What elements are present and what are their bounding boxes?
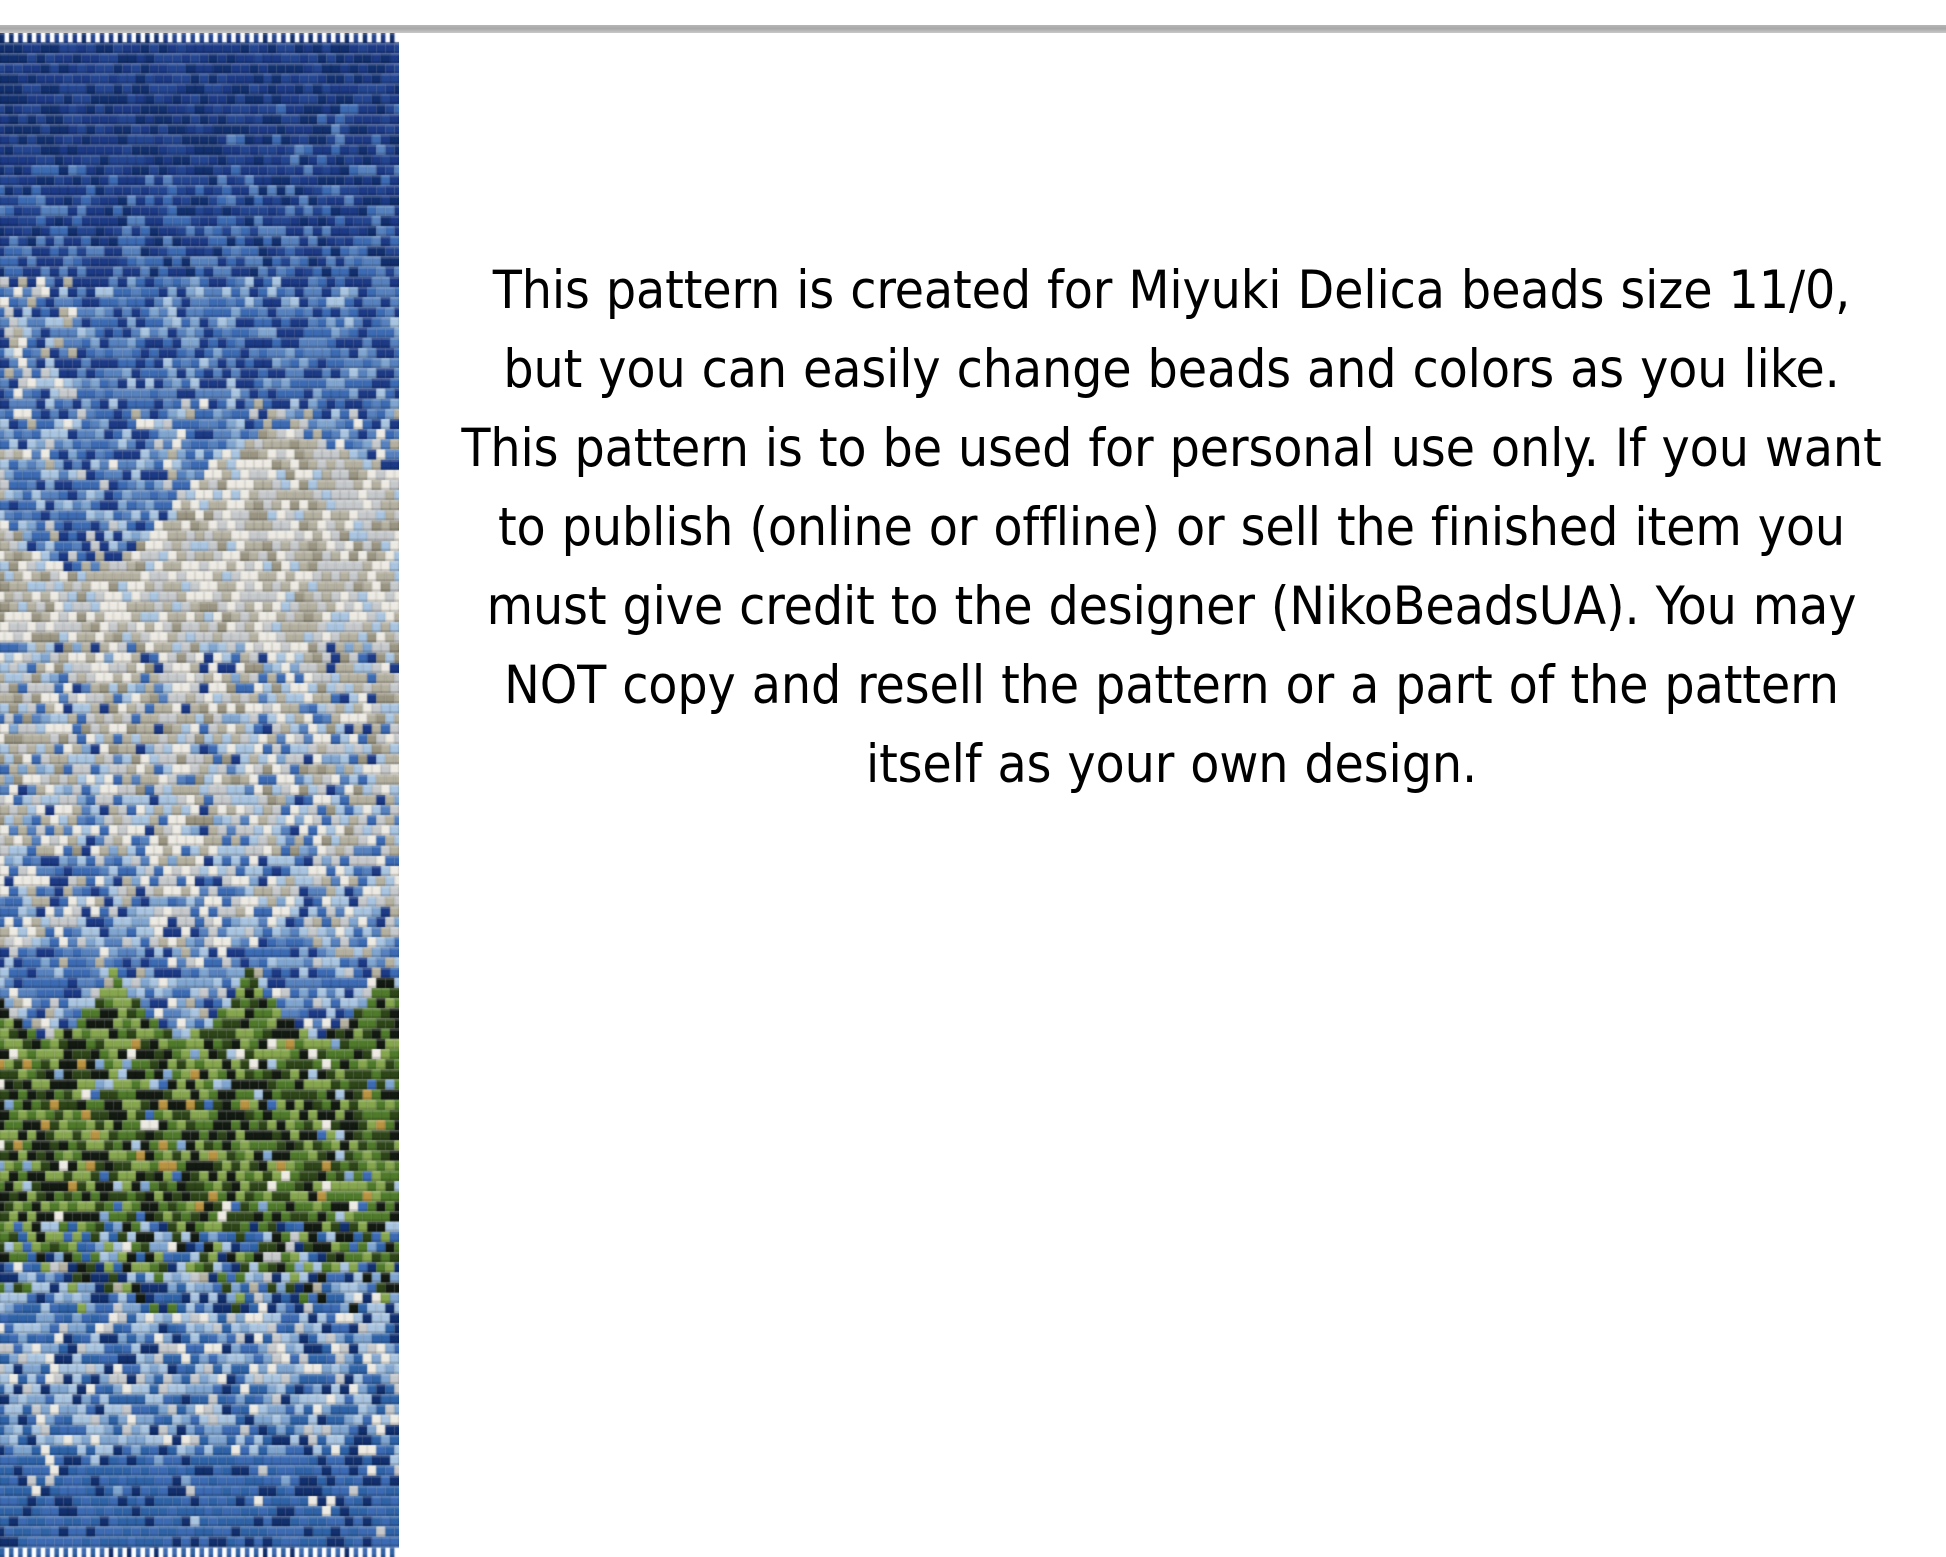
top-divider — [0, 25, 1946, 33]
beadwork-pattern-panel — [0, 33, 399, 1557]
bead-pattern-canvas — [0, 33, 399, 1557]
license-text-panel: This pattern is created for Miyuki Delic… — [399, 33, 1946, 1557]
page-body: This pattern is created for Miyuki Delic… — [0, 33, 1946, 1557]
license-paragraph: This pattern is created for Miyuki Delic… — [459, 251, 1884, 804]
